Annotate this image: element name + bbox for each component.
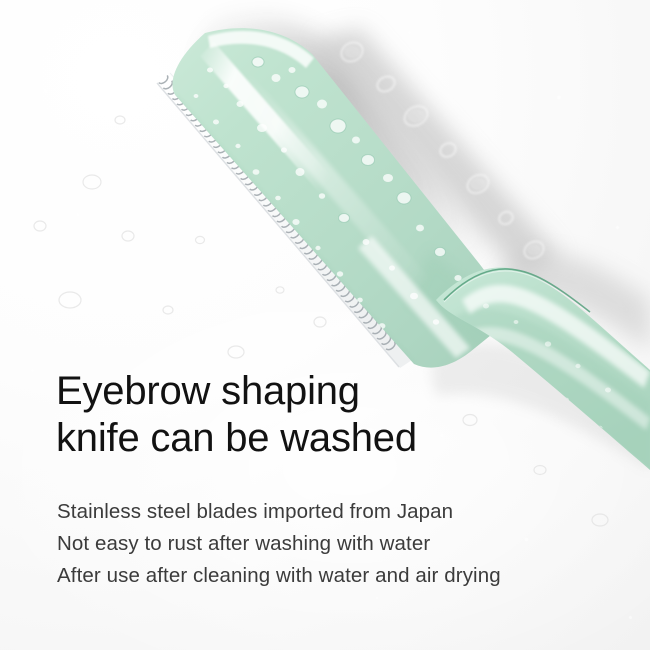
feature-line-1: Stainless steel blades imported from Jap…	[57, 496, 501, 528]
product-marketing-image: Eyebrow shaping knife can be washed Stai…	[0, 0, 650, 650]
feature-line-2: Not easy to rust after washing with wate…	[57, 528, 501, 560]
headline-line-1: Eyebrow shaping	[56, 368, 417, 415]
headline-line-2: knife can be washed	[56, 415, 417, 462]
headline: Eyebrow shaping knife can be washed	[56, 368, 417, 462]
feature-line-3: After use after cleaning with water and …	[57, 560, 501, 592]
feature-list: Stainless steel blades imported from Jap…	[57, 496, 501, 592]
